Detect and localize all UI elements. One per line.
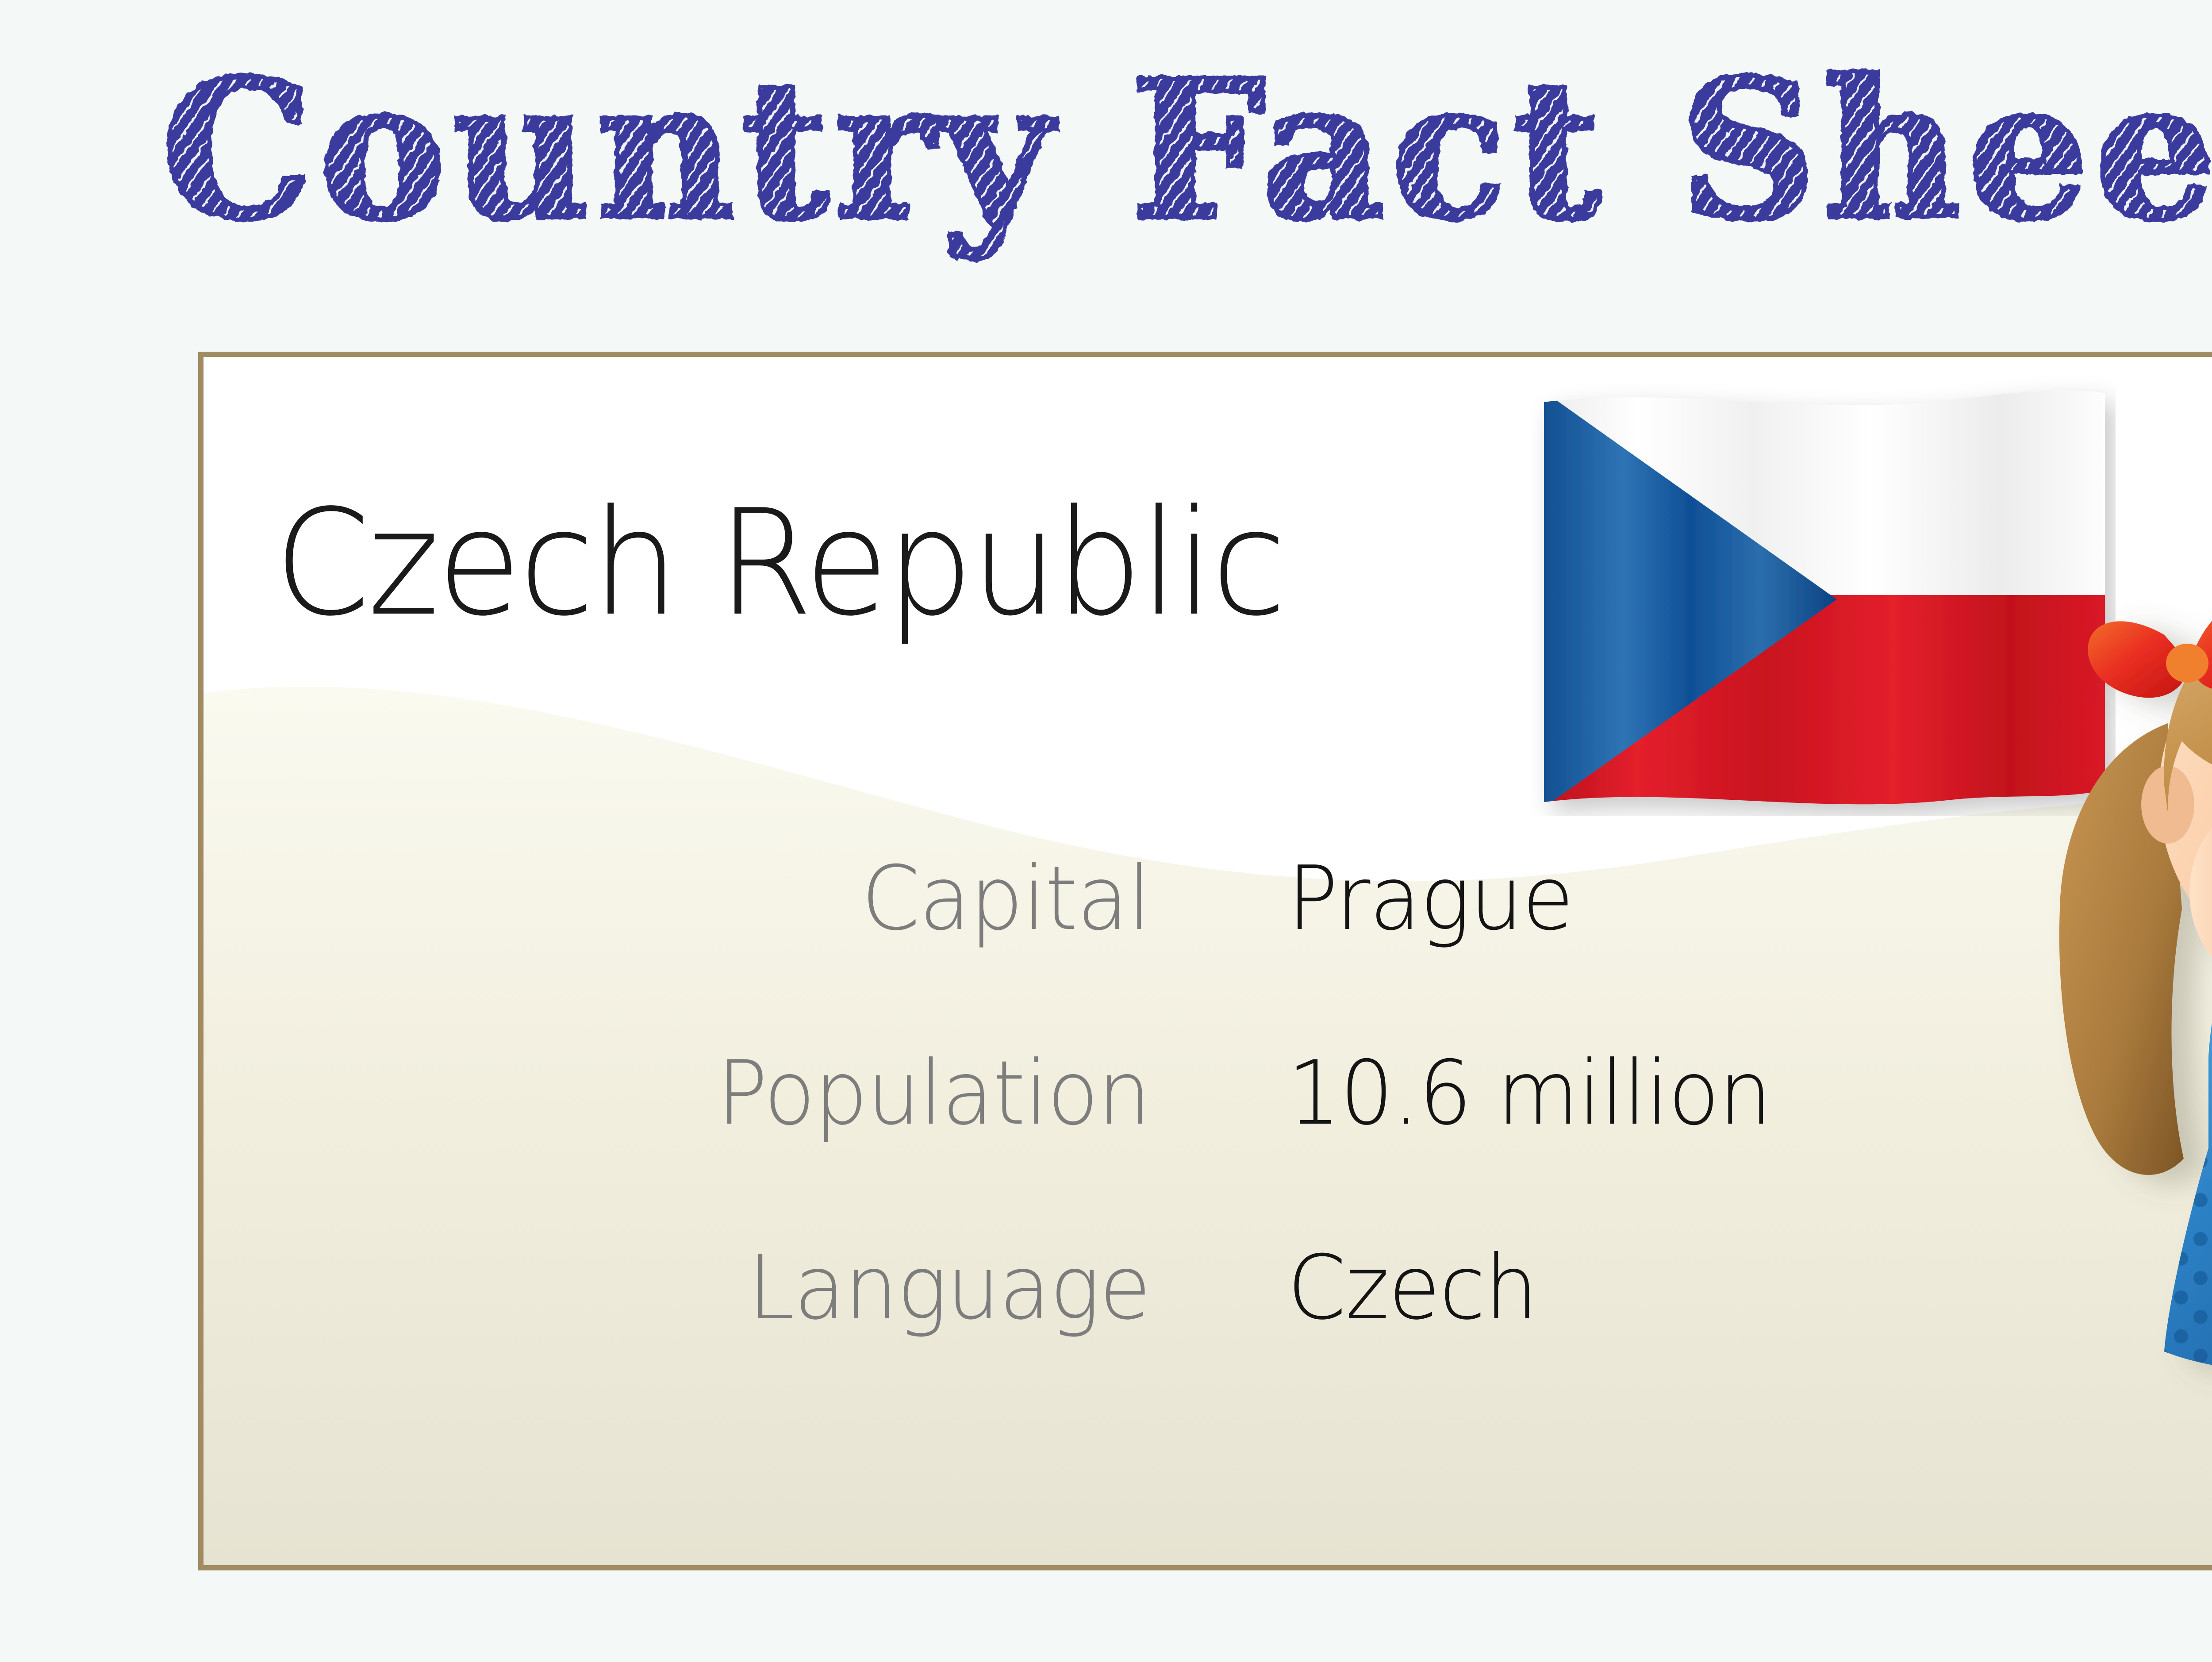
fact-sheet-page: Country Fact Sheets Czech Republic [0, 0, 2212, 1662]
fact-label-population: Population [575, 1042, 1151, 1145]
page-title-text: Country Fact Sheets [161, 38, 2212, 262]
page-title-sketch: Country Fact Sheets [145, 27, 2212, 274]
fact-row-language: Language Czech [544, 1236, 2004, 1431]
fact-label-capital: Capital [575, 847, 1151, 950]
fact-label-language: Language [575, 1236, 1151, 1340]
fact-value-language: Czech [1287, 1236, 1537, 1340]
cartoon-girl-illustration [2035, 529, 2212, 1661]
fact-row-population: Population 10.6 million [544, 1042, 2004, 1236]
facts-list: Capital Prague Population 10.6 million L… [544, 847, 2004, 1431]
girl-svg [2035, 529, 2212, 1661]
czech-republic-flag-icon [1532, 374, 2116, 816]
fact-value-population: 10.6 million [1287, 1042, 1771, 1145]
country-name: Czech Republic [274, 490, 1284, 636]
flag-svg [1532, 374, 2116, 816]
page-title: Country Fact Sheets [0, 27, 2212, 274]
fact-row-capital: Capital Prague [544, 847, 2004, 1042]
fact-value-capital: Prague [1287, 847, 1573, 950]
